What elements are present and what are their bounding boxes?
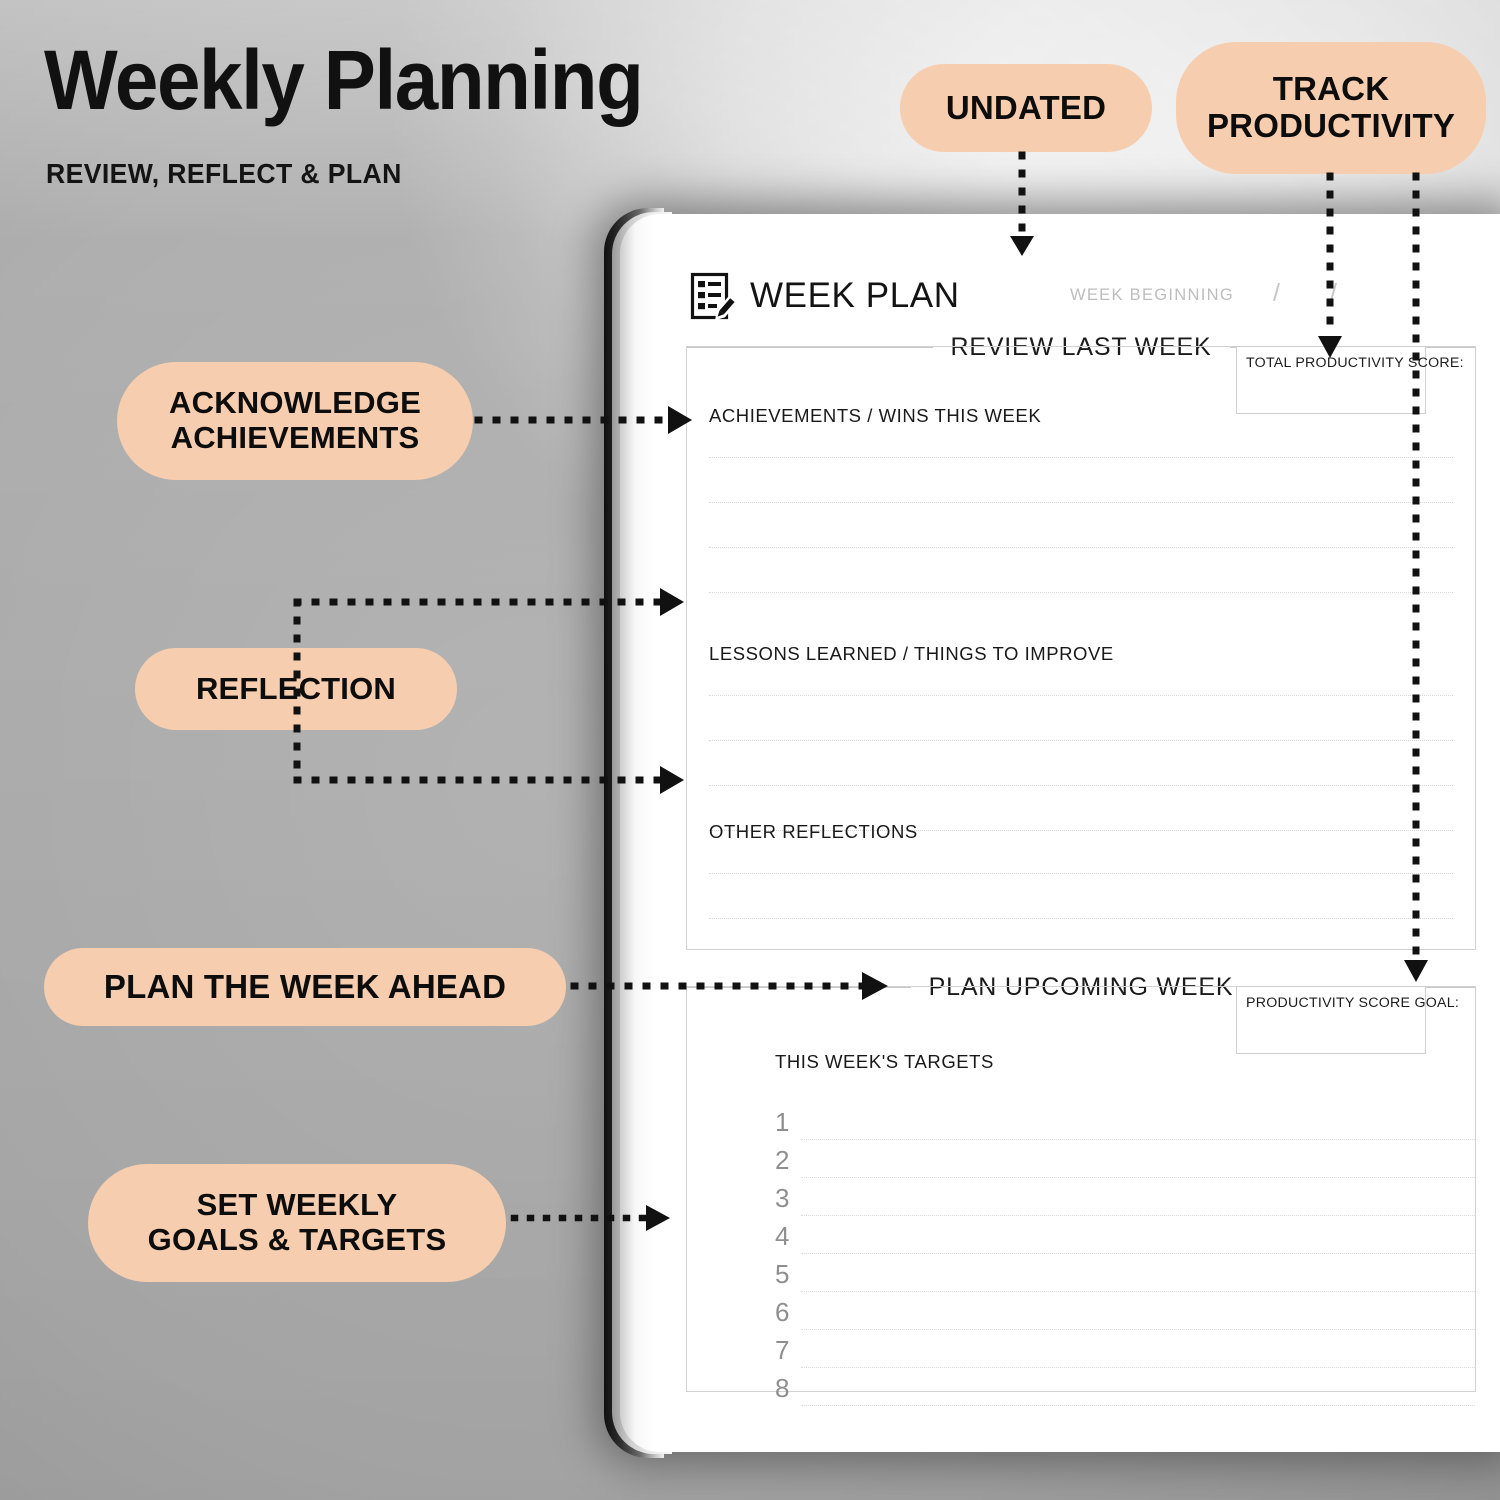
badge-undated-label: UNDATED — [946, 90, 1106, 127]
target-write-line[interactable] — [801, 1291, 1475, 1292]
target-number: 1 — [775, 1107, 789, 1138]
write-line[interactable] — [709, 592, 1453, 593]
badge-track-productivity[interactable]: TRACK PRODUCTIVITY — [1176, 42, 1486, 174]
poster-title: Weekly Planning — [44, 38, 642, 122]
page-curl-shading — [620, 214, 654, 1452]
target-write-line[interactable] — [801, 1177, 1475, 1178]
badge-reflection[interactable]: REFLECTION — [135, 648, 457, 730]
week-beginning-label: WEEK BEGINNING — [1070, 286, 1234, 305]
target-row[interactable]: 5 — [775, 1259, 1475, 1295]
badge-line-2: PRODUCTIVITY — [1207, 107, 1455, 144]
target-write-line[interactable] — [801, 1253, 1475, 1254]
badge-track-productivity-label: TRACK PRODUCTIVITY — [1207, 71, 1455, 145]
badge-acknowledge-achievements[interactable]: ACKNOWLEDGE ACHIEVEMENTS — [117, 362, 473, 480]
badge-line-2: ACHIEVEMENTS — [171, 420, 420, 455]
target-write-line[interactable] — [801, 1367, 1475, 1368]
badge-line-1: ACKNOWLEDGE — [169, 385, 421, 420]
target-row[interactable]: 2 — [775, 1145, 1475, 1181]
target-row[interactable]: 3 — [775, 1183, 1475, 1219]
page-title: WEEK PLAN — [750, 276, 960, 316]
target-row[interactable]: 8 — [775, 1373, 1475, 1409]
total-productivity-score-box[interactable]: TOTAL PRODUCTIVITY SCORE: — [1236, 346, 1426, 414]
target-number: 7 — [775, 1335, 789, 1366]
target-write-line[interactable] — [801, 1405, 1475, 1406]
targets-label: THIS WEEK'S TARGETS — [775, 1051, 994, 1073]
poster-subtitle: REVIEW, REFLECT & PLAN — [46, 158, 402, 190]
poster-canvas: WEEK PLAN WEEK BEGINNING / / REVIEW LAST… — [0, 0, 1500, 1500]
write-line[interactable] — [709, 785, 1453, 786]
badge-acknowledge-label: ACKNOWLEDGE ACHIEVEMENTS — [169, 386, 421, 455]
write-line[interactable] — [709, 457, 1453, 458]
write-line[interactable] — [709, 547, 1453, 548]
write-line[interactable] — [709, 918, 1453, 919]
write-line[interactable] — [709, 502, 1453, 503]
field-label-lessons: LESSONS LEARNED / THINGS TO IMPROVE — [709, 643, 1114, 665]
planner-header: WEEK PLAN WEEK BEGINNING / / — [690, 266, 1500, 326]
date-slash-1: / — [1273, 279, 1280, 308]
badge-undated[interactable]: UNDATED — [900, 64, 1152, 152]
total-productivity-score-label: TOTAL PRODUCTIVITY SCORE: — [1246, 355, 1464, 371]
planner-page: WEEK PLAN WEEK BEGINNING / / REVIEW LAST… — [620, 214, 1500, 1452]
badge-line-1: SET WEEKLY — [197, 1187, 398, 1222]
target-row[interactable]: 1 — [775, 1107, 1475, 1143]
target-row[interactable]: 4 — [775, 1221, 1475, 1257]
target-number: 2 — [775, 1145, 789, 1176]
review-content-box: ACHIEVEMENTS / WINS THIS WEEK LESSONS LE… — [686, 346, 1476, 950]
target-number: 4 — [775, 1221, 789, 1252]
target-number: 3 — [775, 1183, 789, 1214]
write-line[interactable] — [709, 695, 1453, 696]
badge-line-1: TRACK — [1273, 70, 1389, 107]
productivity-score-goal-label: PRODUCTIVITY SCORE GOAL: — [1246, 995, 1459, 1011]
date-slash-2: / — [1330, 279, 1337, 308]
badge-plan-label: PLAN THE WEEK AHEAD — [104, 969, 506, 1006]
target-number: 8 — [775, 1373, 789, 1404]
write-line[interactable] — [709, 740, 1453, 741]
target-row[interactable]: 7 — [775, 1335, 1475, 1371]
target-write-line[interactable] — [801, 1215, 1475, 1216]
target-number: 5 — [775, 1259, 789, 1290]
write-line[interactable] — [709, 873, 1453, 874]
clipboard-pencil-icon — [690, 271, 736, 321]
badge-line-2: GOALS & TARGETS — [148, 1222, 447, 1257]
badge-goals-label: SET WEEKLY GOALS & TARGETS — [148, 1188, 447, 1257]
field-label-achievements: ACHIEVEMENTS / WINS THIS WEEK — [709, 405, 1041, 427]
badge-reflection-label: REFLECTION — [196, 672, 396, 707]
target-write-line[interactable] — [801, 1329, 1475, 1330]
target-number: 6 — [775, 1297, 789, 1328]
badge-plan-the-week-ahead[interactable]: PLAN THE WEEK AHEAD — [44, 948, 566, 1026]
field-label-other: OTHER REFLECTIONS — [709, 821, 918, 843]
productivity-score-goal-box[interactable]: PRODUCTIVITY SCORE GOAL: — [1236, 986, 1426, 1054]
badge-set-weekly-goals[interactable]: SET WEEKLY GOALS & TARGETS — [88, 1164, 506, 1282]
target-row[interactable]: 6 — [775, 1297, 1475, 1333]
target-write-line[interactable] — [801, 1139, 1475, 1140]
